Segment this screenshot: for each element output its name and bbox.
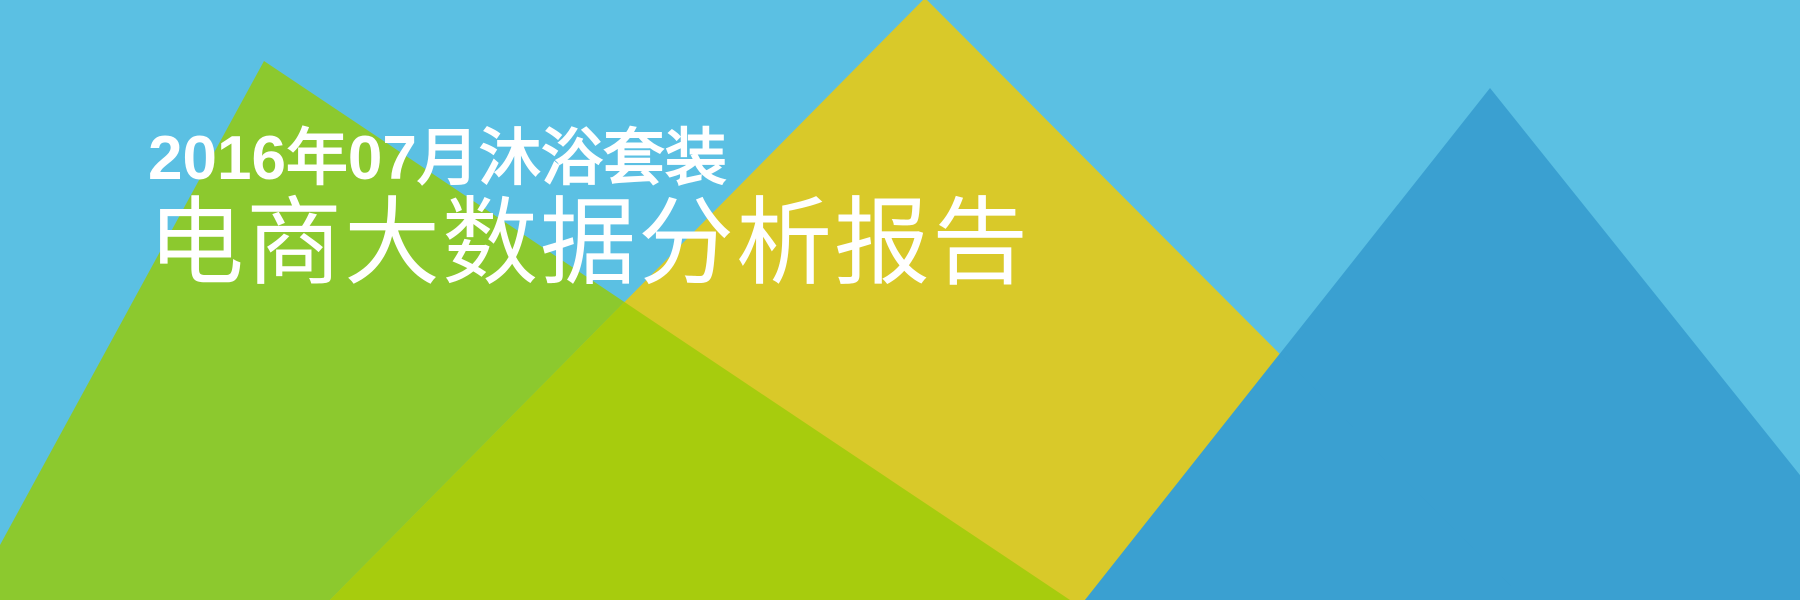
cover-title-block: 2016年07月沐浴套装 电商大数据分析报告: [148, 128, 1030, 292]
report-cover-banner: 2016年07月沐浴套装 电商大数据分析报告: [0, 0, 1800, 600]
background-geometric-artwork: [0, 0, 1800, 600]
cover-title-line-1: 2016年07月沐浴套装: [148, 128, 1030, 190]
cover-title-line-2: 电商大数据分析报告: [148, 196, 1030, 292]
